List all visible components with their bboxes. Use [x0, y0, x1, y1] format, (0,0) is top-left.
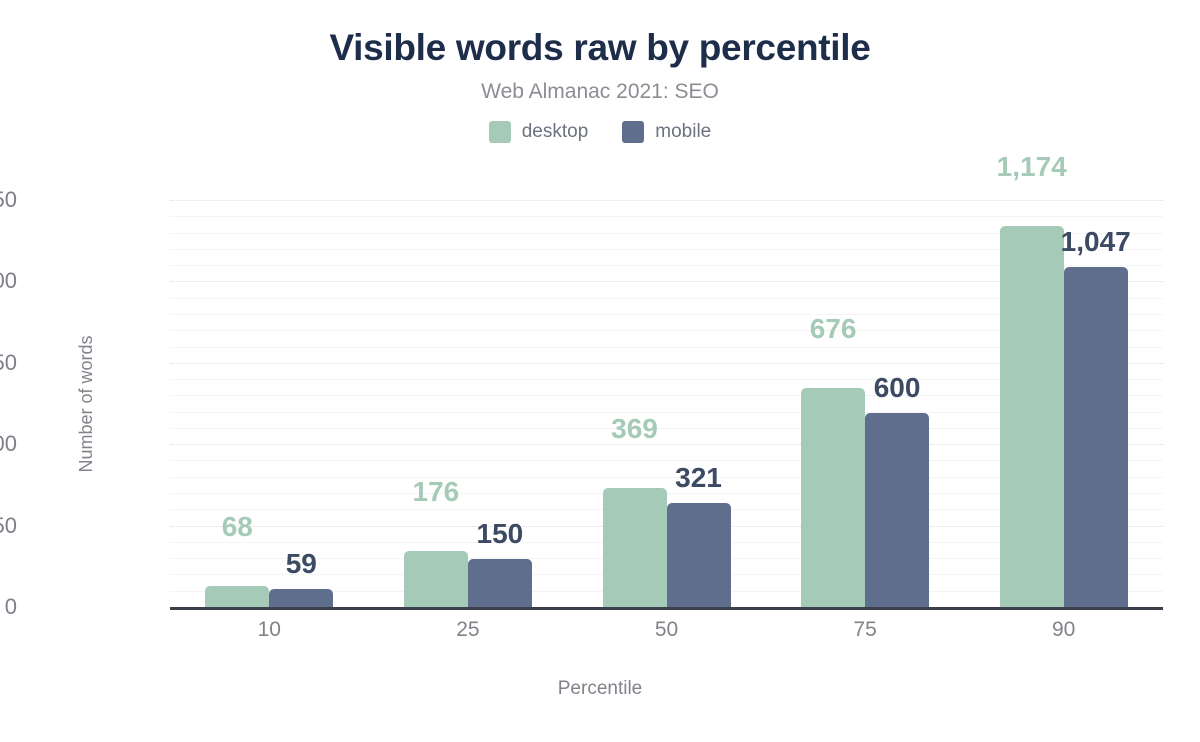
x-axis-tick-label: 75 — [853, 618, 876, 642]
gridline-major — [170, 281, 1163, 282]
legend-swatch-mobile — [622, 121, 644, 143]
gridline-major — [170, 200, 1163, 201]
bar-mobile-50[interactable] — [667, 503, 731, 608]
chart-subtitle: Web Almanac 2021: SEO — [0, 80, 1200, 103]
legend-item-desktop[interactable]: desktop — [489, 121, 589, 143]
bar-label-desktop-50: 369 — [611, 413, 658, 445]
gridline-minor — [170, 298, 1163, 299]
y-axis-tick-label: 750 — [0, 350, 17, 376]
bar-desktop-10[interactable] — [205, 586, 269, 608]
gridline-minor — [170, 216, 1163, 217]
gridline-major — [170, 526, 1163, 527]
bar-label-desktop-10: 68 — [222, 511, 253, 543]
gridline-minor — [170, 249, 1163, 250]
gridline-minor — [170, 574, 1163, 575]
gridline-major — [170, 363, 1163, 364]
y-axis-tick-label: 500 — [0, 431, 17, 457]
x-axis-tick-label: 25 — [456, 618, 479, 642]
bar-label-desktop-25: 176 — [413, 476, 460, 508]
bar-label-mobile-90: 1,047 — [1061, 226, 1131, 258]
gridline-minor — [170, 347, 1163, 348]
bar-desktop-75[interactable] — [801, 388, 865, 608]
bar-desktop-50[interactable] — [603, 488, 667, 608]
gridline-minor — [170, 379, 1163, 380]
plot-area — [170, 200, 1163, 608]
legend-label-mobile: mobile — [655, 121, 711, 143]
legend-item-mobile[interactable]: mobile — [622, 121, 711, 143]
chart-title: Visible words raw by percentile — [0, 28, 1200, 68]
gridline-minor — [170, 509, 1163, 510]
y-axis-tick-label: 250 — [0, 513, 17, 539]
legend-swatch-desktop — [489, 121, 511, 143]
bar-mobile-75[interactable] — [865, 413, 929, 608]
y-axis-title: Number of words — [76, 335, 97, 472]
x-axis-tick-label: 50 — [655, 618, 678, 642]
bar-mobile-10[interactable] — [269, 589, 333, 608]
gridline-minor — [170, 265, 1163, 266]
y-axis-tick-label: 1,000 — [0, 268, 17, 294]
x-axis-title: Percentile — [0, 678, 1200, 700]
chart-legend: desktopmobile — [0, 121, 1200, 143]
y-axis-tick-label: 1,250 — [0, 187, 17, 213]
gridline-minor — [170, 591, 1163, 592]
bar-label-mobile-10: 59 — [286, 548, 317, 580]
gridline-minor — [170, 493, 1163, 494]
gridline-minor — [170, 233, 1163, 234]
x-axis-baseline — [170, 607, 1163, 610]
gridline-minor — [170, 460, 1163, 461]
gridline-minor — [170, 428, 1163, 429]
bar-label-mobile-75: 600 — [874, 372, 921, 404]
legend-label-desktop: desktop — [522, 121, 589, 143]
bar-label-desktop-75: 676 — [810, 313, 857, 345]
gridline-minor — [170, 330, 1163, 331]
bar-desktop-90[interactable] — [1000, 226, 1064, 608]
bar-desktop-25[interactable] — [404, 551, 468, 608]
chart-header: Visible words raw by percentile Web Alma… — [0, 0, 1200, 143]
gridline-minor — [170, 542, 1163, 543]
x-axis-tick-label: 90 — [1052, 618, 1075, 642]
bar-mobile-25[interactable] — [468, 559, 532, 608]
y-axis-tick-label: 0 — [0, 594, 17, 620]
bar-mobile-90[interactable] — [1064, 267, 1128, 608]
gridline-minor — [170, 412, 1163, 413]
gridline-minor — [170, 314, 1163, 315]
gridline-minor — [170, 558, 1163, 559]
gridline-minor — [170, 477, 1163, 478]
bar-label-mobile-50: 321 — [675, 462, 722, 494]
gridline-major — [170, 444, 1163, 445]
bar-label-mobile-25: 150 — [477, 518, 524, 550]
bar-label-desktop-90: 1,174 — [997, 151, 1067, 183]
gridline-minor — [170, 395, 1163, 396]
x-axis-tick-label: 10 — [258, 618, 281, 642]
